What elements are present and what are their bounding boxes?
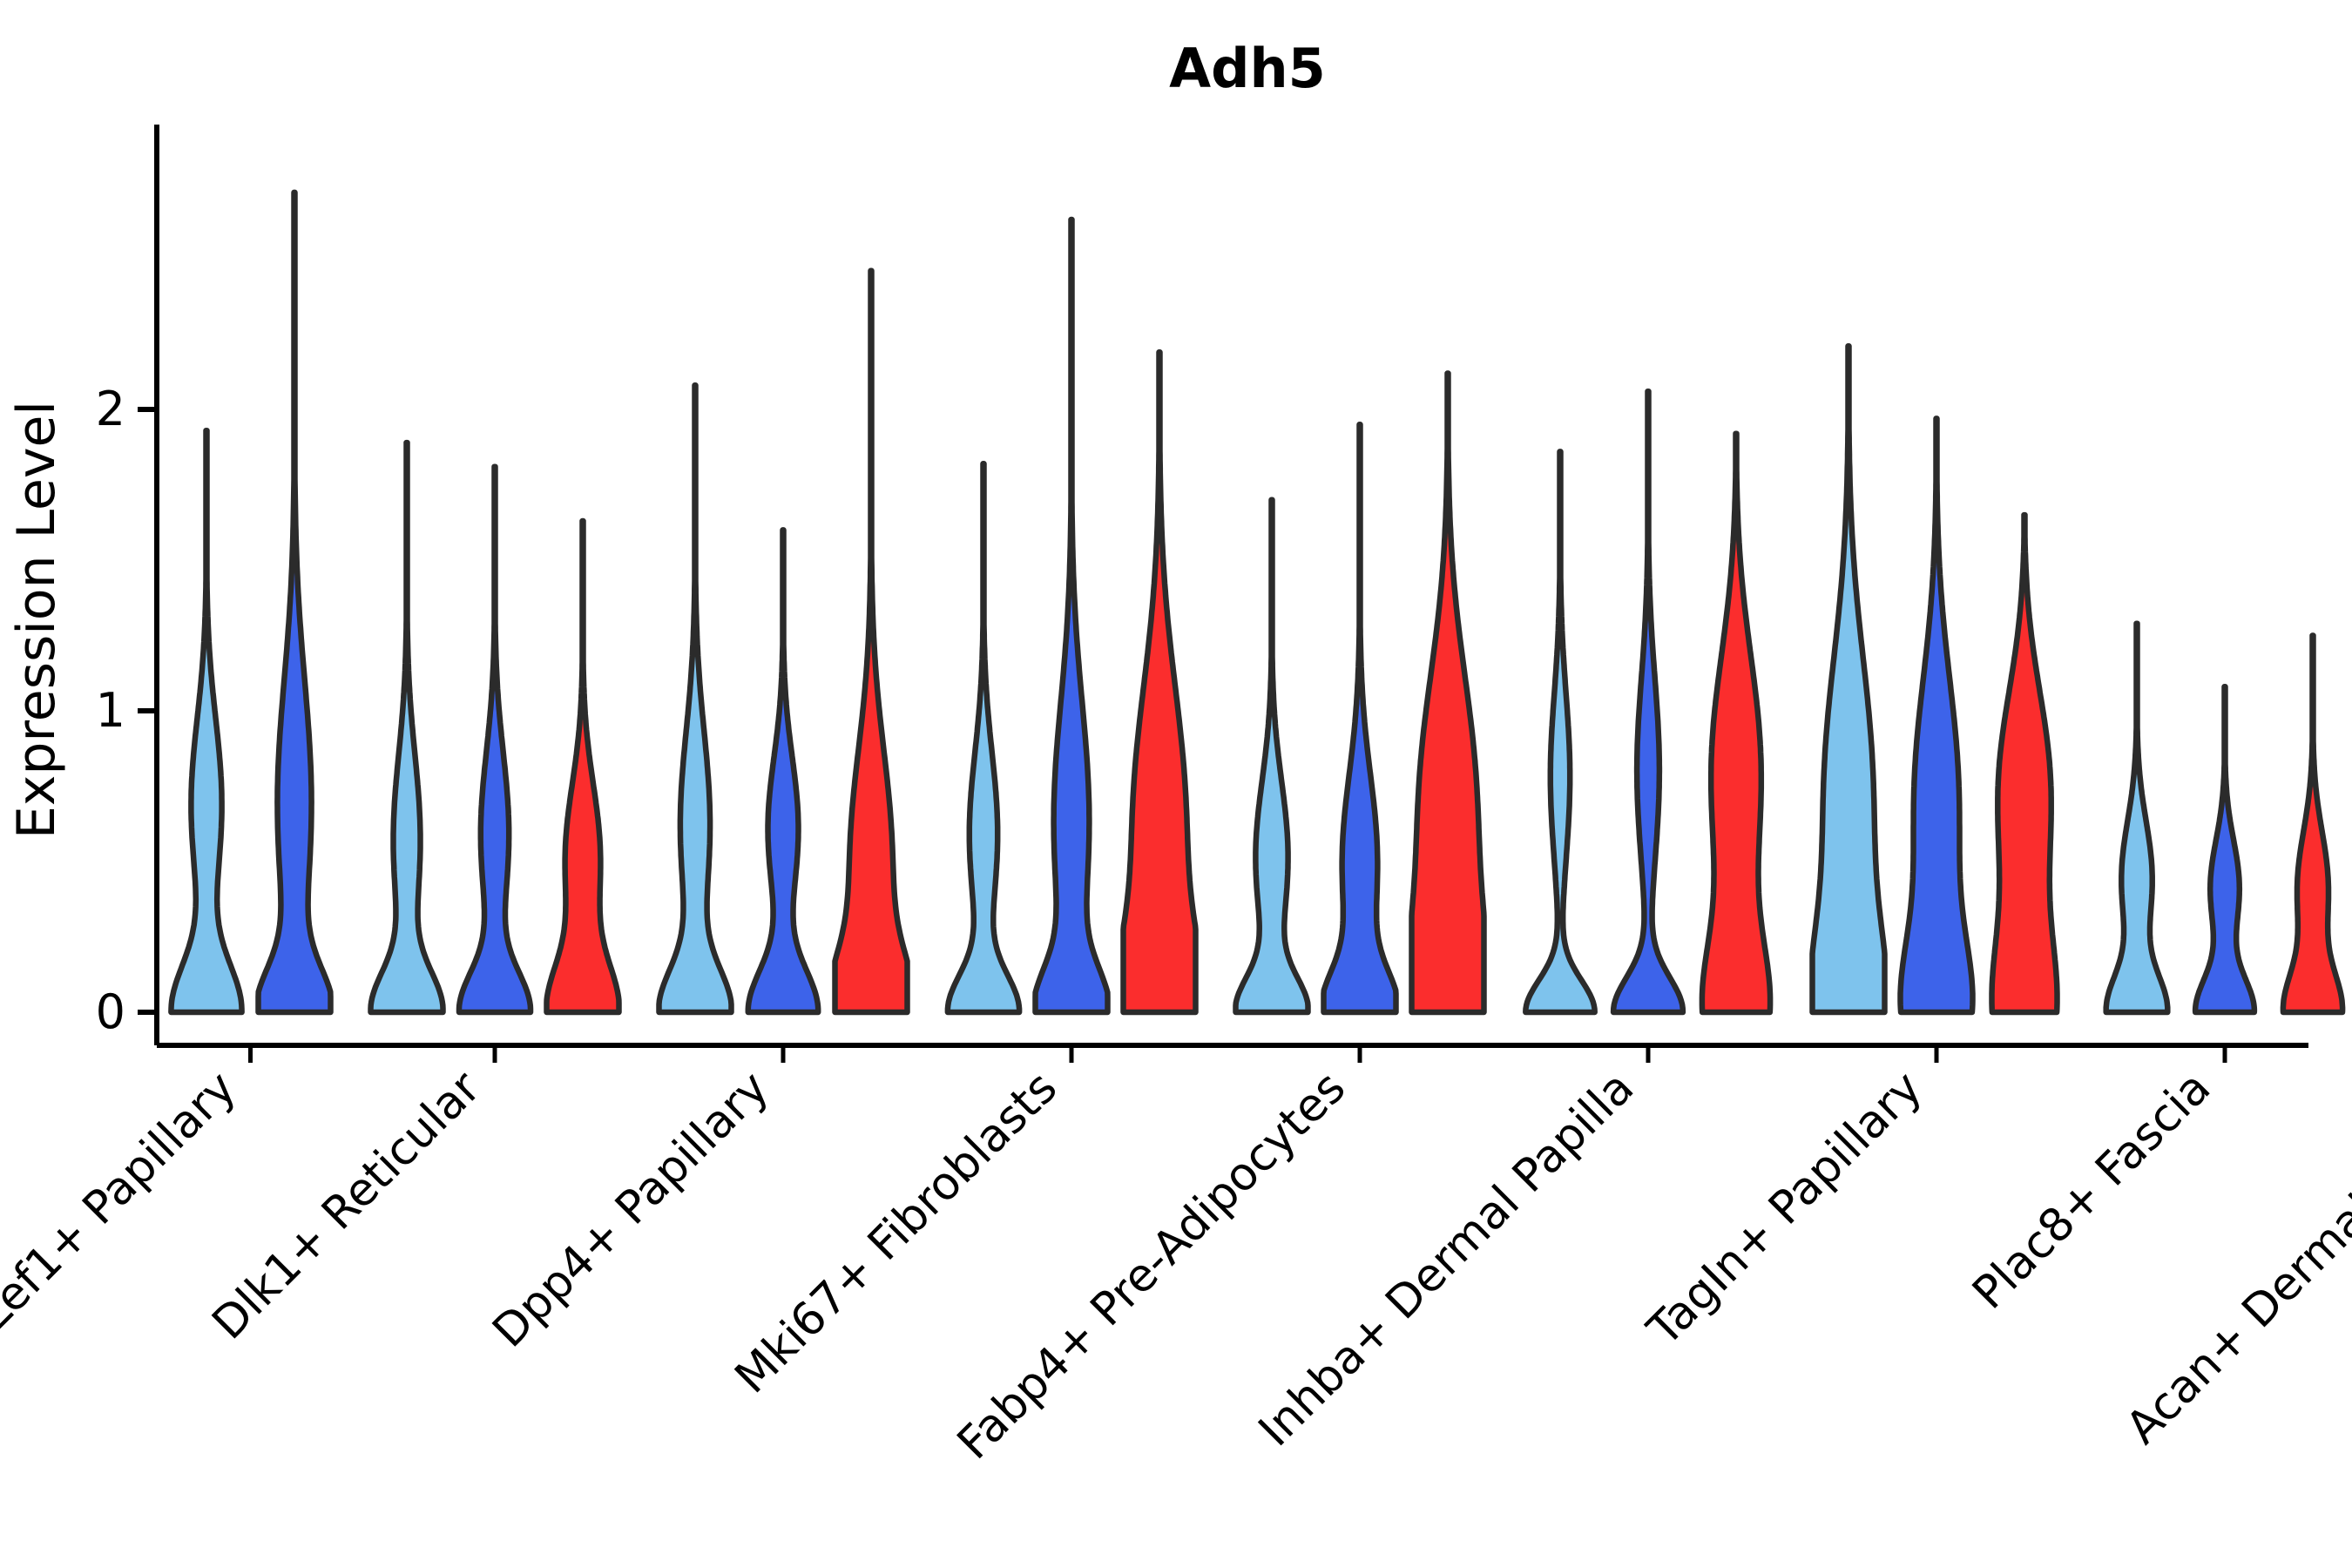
violin-red-3	[1124, 352, 1196, 1012]
violin-blue-0	[259, 193, 331, 1012]
violin-plot-figure: 012Expression LevelAdh5Lef1+ PapillaryDl…	[0, 0, 2352, 1568]
x-tick-label-7: Plac8+ Fascia	[1963, 1062, 2220, 1320]
violin-red-2	[835, 271, 908, 1012]
violin-light-blue-6	[1813, 346, 1885, 1012]
violin-red-1	[547, 521, 619, 1012]
violin-light-blue-1	[371, 443, 443, 1012]
violin-blue-3	[1036, 220, 1108, 1012]
violin-light-blue-4	[1236, 500, 1308, 1012]
y-tick-label-2: 2	[96, 382, 125, 436]
x-tick-label-6: TagIn+ Papillary	[1638, 1062, 1932, 1356]
y-tick-label-0: 0	[96, 984, 125, 1039]
violin-light-blue-2	[659, 385, 732, 1012]
y-tick-label-1: 1	[96, 683, 125, 738]
violin-light-blue-5	[1525, 451, 1594, 1012]
y-axis-title: Expression Level	[6, 401, 67, 839]
violin-red-5	[1702, 434, 1770, 1012]
violin-light-blue-7	[2106, 624, 2168, 1012]
plot-title: Adh5	[1169, 37, 1326, 100]
violin-blue-5	[1613, 391, 1683, 1012]
x-tick-label-1: Dlk1+ Reticular	[203, 1061, 491, 1349]
violin-red-4	[1412, 374, 1484, 1013]
plot-canvas: 012Expression LevelAdh5Lef1+ PapillaryDl…	[0, 0, 2352, 1568]
violin-light-blue-0	[171, 430, 241, 1012]
x-tick-label-0: Lef1+ Papillary	[0, 1062, 247, 1341]
violin-blue-4	[1324, 424, 1396, 1012]
violin-blue-1	[459, 467, 531, 1012]
violin-blue-6	[1901, 418, 1973, 1012]
violin-blue-2	[748, 530, 818, 1012]
x-tick-label-3: Mki67+ Fibroblasts	[726, 1062, 1068, 1404]
violin-red-6	[1992, 515, 2058, 1012]
violin-light-blue-3	[948, 463, 1019, 1012]
violin-red-7	[2283, 636, 2342, 1013]
x-tick-label-2: Dpp4+ Papillary	[483, 1062, 779, 1358]
violin-blue-7	[2195, 686, 2254, 1012]
